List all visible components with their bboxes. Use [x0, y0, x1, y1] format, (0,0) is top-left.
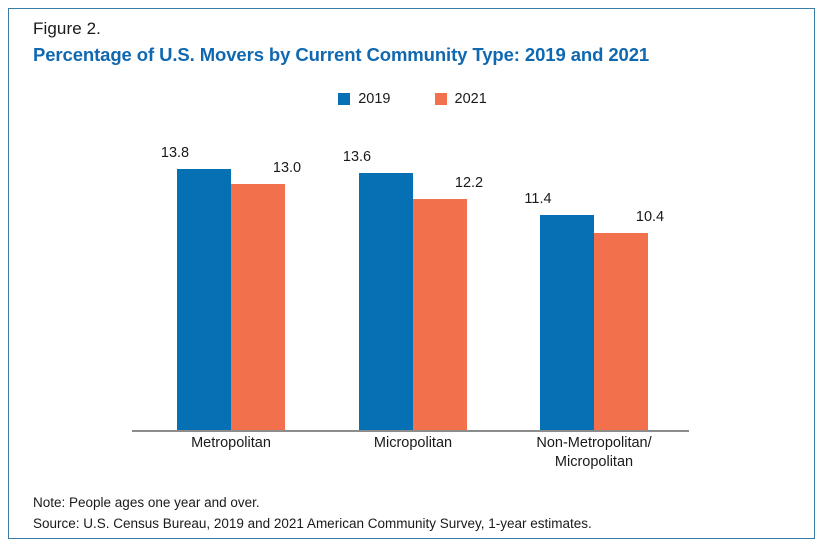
- bar-group: 11.410.4Non-Metropolitan/ Micropolitan: [540, 150, 648, 430]
- bar-chart-plot: 13.813.0Metropolitan13.612.2Micropolitan…: [9, 9, 816, 540]
- bar-value-label: 10.4: [636, 209, 664, 225]
- bars: 13.813.0: [177, 150, 285, 430]
- bar-value-label: 13.6: [343, 149, 371, 165]
- bar-2021-3[interactable]: 10.4: [594, 233, 648, 430]
- note-line: Note: People ages one year and over.: [33, 493, 592, 514]
- bar-2019-1[interactable]: 13.8: [177, 169, 231, 430]
- bar-group: 13.612.2Micropolitan: [359, 150, 467, 430]
- bar-value-label: 13.0: [273, 160, 301, 176]
- x-axis-line: [132, 430, 689, 432]
- x-axis-category-label: Metropolitan: [136, 434, 326, 453]
- bar-2021-2[interactable]: 12.2: [413, 199, 467, 430]
- bar-2019-2[interactable]: 13.6: [359, 173, 413, 430]
- bar-2019-3[interactable]: 11.4: [540, 215, 594, 430]
- figure-notes: Note: People ages one year and over. Sou…: [33, 493, 592, 535]
- bar-2021-1[interactable]: 13.0: [231, 184, 285, 430]
- bar-group: 13.813.0Metropolitan: [177, 150, 285, 430]
- source-line: Source: U.S. Census Bureau, 2019 and 202…: [33, 514, 592, 535]
- x-axis-category-label: Micropolitan: [318, 434, 508, 453]
- figure-frame: Figure 2. Percentage of U.S. Movers by C…: [8, 8, 815, 539]
- bar-value-label: 11.4: [524, 191, 551, 207]
- bars: 13.612.2: [359, 150, 467, 430]
- bars: 11.410.4: [540, 150, 648, 430]
- bar-value-label: 13.8: [161, 145, 189, 161]
- bar-value-label: 12.2: [455, 175, 483, 191]
- x-axis-category-label: Non-Metropolitan/ Micropolitan: [499, 434, 689, 471]
